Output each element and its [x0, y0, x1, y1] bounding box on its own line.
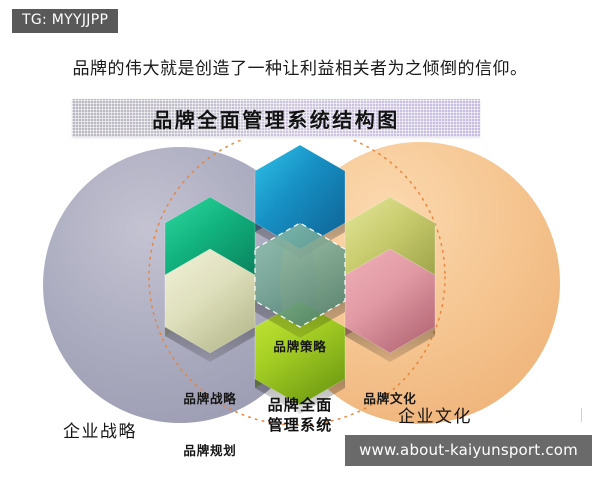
page-title: 品牌全面管理系统结构图 [72, 99, 480, 137]
subtitle-text: 品牌的伟大就是创造了一种让利益相关者为之倾倒的信仰。 [0, 54, 600, 79]
site-watermark: www.about-kaiyunsport.com [345, 435, 592, 466]
bottom-strip [0, 472, 600, 480]
hexagon-label-lower-left: 品牌规划 [143, 440, 277, 459]
title-banner: 品牌全面管理系统结构图 [72, 99, 480, 137]
tg-handle-badge: TG: MYYJJPP [12, 9, 118, 33]
hexagon-cluster: 品牌策略 品牌战略 品牌文化 品牌规划 品牌形象 品牌维护 品牌全面 管理系统 [0, 140, 600, 430]
slide-canvas: TG: MYYJJPP 品牌的伟大就是创造了一种让利益相关者为之倾倒的信仰。 品… [0, 0, 600, 480]
hexagon-svg [0, 140, 600, 430]
